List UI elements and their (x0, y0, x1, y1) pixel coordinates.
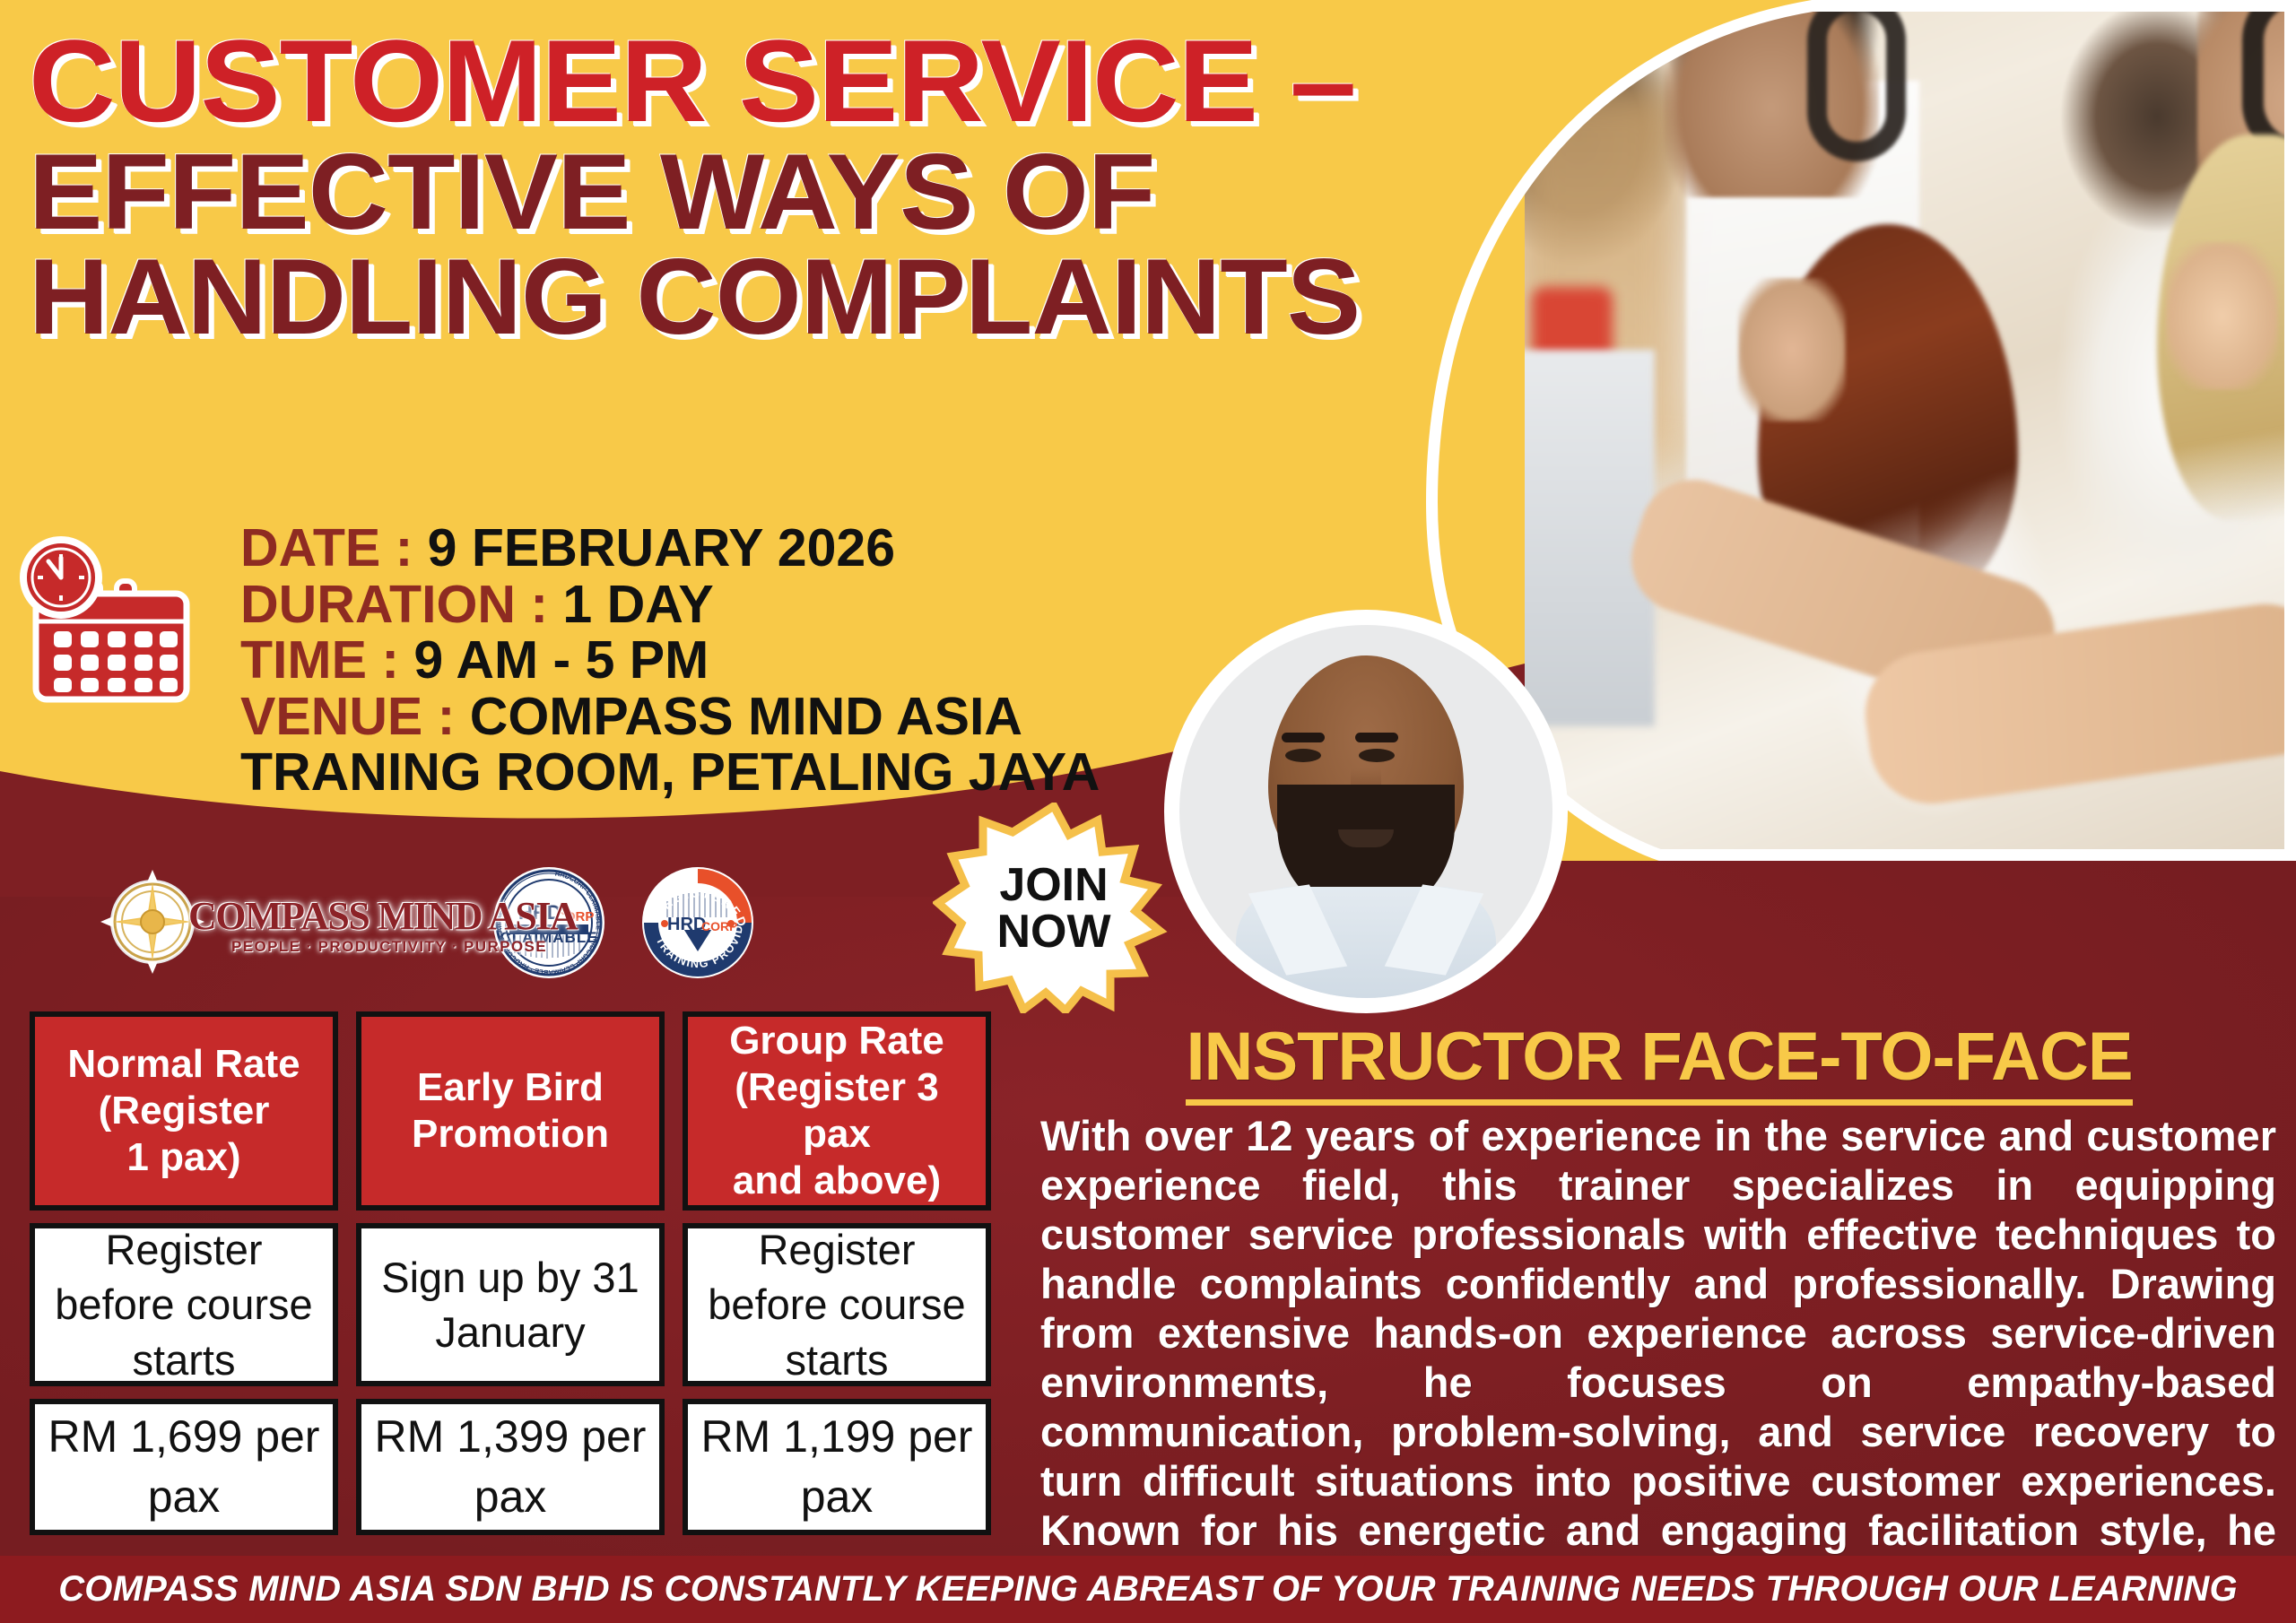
join-line-2: NOW (996, 908, 1110, 955)
detail-label-date: DATE : (240, 518, 428, 577)
instructor-heading-text: INSTRUCTOR FACE-TO-FACE (1186, 1018, 2132, 1106)
company-tagline: PEOPLE · PRODUCTIVITY · PURPOSE (231, 938, 547, 956)
table-header-early-bird: Early Bird Promotion (356, 1011, 665, 1211)
detail-value-venue-line2: TRANING ROOM, PETALING JAYA (240, 742, 1100, 802)
title-line-3: HANDLING COMPLAINTS (29, 247, 1378, 348)
title-line-1: CUSTOMER SERVICE – (29, 27, 1378, 135)
detail-label-time: TIME : (240, 630, 413, 690)
company-name: COMPASS MIND ASIA (188, 893, 577, 939)
logo-row: COMPASS MIND ASIA PEOPLE · PRODUCTIVITY … (99, 865, 755, 980)
detail-label-duration: DURATION : (240, 575, 562, 634)
instructor-avatar (1164, 610, 1568, 1013)
table-cell-condition-normal: Register before course starts (30, 1223, 338, 1386)
instructor-heading: INSTRUCTOR FACE-TO-FACE (1040, 1018, 2278, 1106)
detail-row-time: TIME : 9 AM - 5 PM (240, 632, 1100, 689)
detail-value-venue: COMPASS MIND ASIA (470, 687, 1022, 746)
join-now-label: JOIN NOW (933, 803, 1175, 1013)
event-details: DATE : 9 FEBRUARY 2026 DURATION : 1 DAY … (240, 520, 1100, 801)
table-condition-row: Register before course starts Sign up by… (30, 1223, 991, 1386)
join-now-badge[interactable]: JOIN NOW (933, 803, 1175, 1013)
avatar (1179, 625, 1552, 998)
header-line: Normal Rate (67, 1041, 300, 1088)
header-line: (Register 3 pax (697, 1064, 977, 1158)
detail-value-date: 9 FEBRUARY 2026 (428, 518, 895, 577)
header-line: 1 pax) (67, 1134, 300, 1181)
instructor-bio: With over 12 years of experience in the … (1040, 1112, 2276, 1623)
footer-text: COMPASS MIND ASIA SDN BHD IS CONSTANTLY … (58, 1569, 2238, 1610)
table-cell-price-normal: RM 1,699 per pax (30, 1399, 338, 1535)
footer-bar: COMPASS MIND ASIA SDN BHD IS CONSTANTLY … (0, 1556, 2296, 1623)
detail-value-duration: 1 DAY (562, 575, 713, 634)
table-cell-price-early-bird: RM 1,399 per pax (356, 1399, 665, 1535)
join-line-1: JOIN (999, 862, 1108, 908)
table-cell-price-group: RM 1,199 per pax (683, 1399, 991, 1535)
header-line: Promotion (412, 1111, 609, 1158)
svg-text:HRD: HRD (667, 915, 706, 934)
table-cell-condition-group: Register before course starts (683, 1223, 991, 1386)
table-header-group-rate: Group Rate (Register 3 pax and above) (683, 1011, 991, 1211)
title-line-2: EFFECTIVE WAYS OF (29, 143, 1378, 243)
detail-value-time: 9 AM - 5 PM (413, 630, 709, 690)
detail-row-duration: DURATION : 1 DAY (240, 577, 1100, 633)
header-line: Early Bird (412, 1064, 609, 1111)
pricing-table: Normal Rate (Register 1 pax) Early Bird … (30, 1011, 991, 1535)
header-line: Group Rate (697, 1018, 977, 1064)
detail-row-venue-line2: TRANING ROOM, PETALING JAYA (240, 744, 1100, 801)
detail-row-venue: VENUE : COMPASS MIND ASIA (240, 689, 1100, 745)
detail-label-venue: VENUE : (240, 687, 470, 746)
calendar-clock-icon (16, 534, 222, 741)
table-price-row: RM 1,699 per pax RM 1,399 per pax RM 1,1… (30, 1399, 991, 1535)
compass-mind-asia-logo: COMPASS MIND ASIA PEOPLE · PRODUCTIVITY … (99, 873, 457, 972)
hrdcorp-registered-training-provider-badge-icon: HRD CORP REGISTERED TRAINING PROVIDER (640, 865, 755, 980)
page-title: CUSTOMER SERVICE – EFFECTIVE WAYS OF HAN… (29, 27, 1338, 348)
header-line: and above) (697, 1158, 977, 1204)
table-header-normal-rate: Normal Rate (Register 1 pax) (30, 1011, 338, 1211)
table-header-row: Normal Rate (Register 1 pax) Early Bird … (30, 1011, 991, 1211)
table-cell-condition-early-bird: Sign up by 31 January (356, 1223, 665, 1386)
detail-row-date: DATE : 9 FEBRUARY 2026 (240, 520, 1100, 577)
header-line: (Register (67, 1088, 300, 1134)
